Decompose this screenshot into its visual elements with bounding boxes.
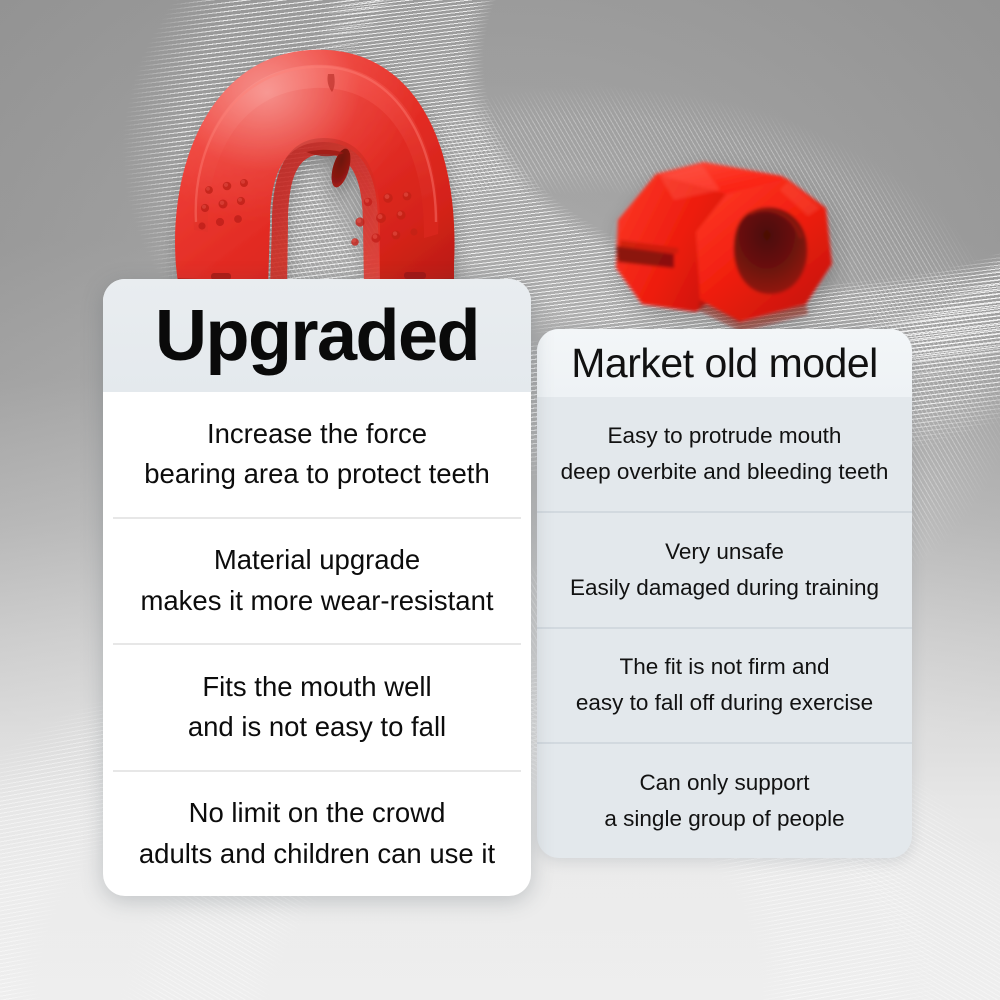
upgraded-feature-line: Material upgrade [214,540,420,581]
old-feature-line: deep overbite and bleeding teeth [561,454,889,490]
old-feature-row: The fit is not firm and easy to fall off… [537,627,912,743]
old-feature-line: a single group of people [604,801,844,837]
old-model-mouthguard-image [600,128,850,348]
panel-upgraded-body: Increase the force bearing area to prote… [103,392,531,896]
upgraded-feature-line: Increase the force [207,414,427,455]
upgraded-feature-row: Material upgrade makes it more wear-resi… [113,517,521,644]
old-feature-line: Can only support [639,765,809,801]
upgraded-feature-row: Increase the force bearing area to prote… [113,392,521,517]
old-feature-line: easy to fall off during exercise [576,685,873,721]
panel-upgraded-header: Upgraded [103,279,531,392]
upgraded-feature-line: Fits the mouth well [202,667,431,708]
upgraded-feature-line: bearing area to protect teeth [144,454,490,495]
old-feature-row: Can only support a single group of peopl… [537,742,912,858]
upgraded-feature-line: makes it more wear-resistant [140,581,493,622]
panel-old-title: Market old model [571,340,877,387]
panel-market-old-model: Market old model Easy to protrude mouth … [537,329,912,858]
panel-upgraded: Upgraded Increase the force bearing area… [103,279,531,896]
old-feature-line: Easily damaged during training [570,570,879,606]
panel-upgraded-title: Upgraded [155,300,479,372]
upgraded-mouthguard-image [148,16,498,316]
panel-old-body: Easy to protrude mouth deep overbite and… [537,397,912,858]
old-feature-row: Very unsafe Easily damaged during traini… [537,511,912,627]
old-feature-line: Easy to protrude mouth [608,418,842,454]
upgraded-feature-line: No limit on the crowd [189,793,446,834]
upgraded-feature-line: adults and children can use it [139,834,495,875]
panel-old-header: Market old model [537,329,912,397]
upgraded-feature-line: and is not easy to fall [188,707,446,748]
product-comparison-infographic: Market old model Easy to protrude mouth … [0,0,1000,1000]
old-feature-line: The fit is not firm and [619,649,829,685]
upgraded-feature-row: Fits the mouth well and is not easy to f… [113,643,521,770]
old-feature-row: Easy to protrude mouth deep overbite and… [537,397,912,511]
upgraded-feature-row: No limit on the crowd adults and childre… [113,770,521,897]
old-feature-line: Very unsafe [665,534,784,570]
